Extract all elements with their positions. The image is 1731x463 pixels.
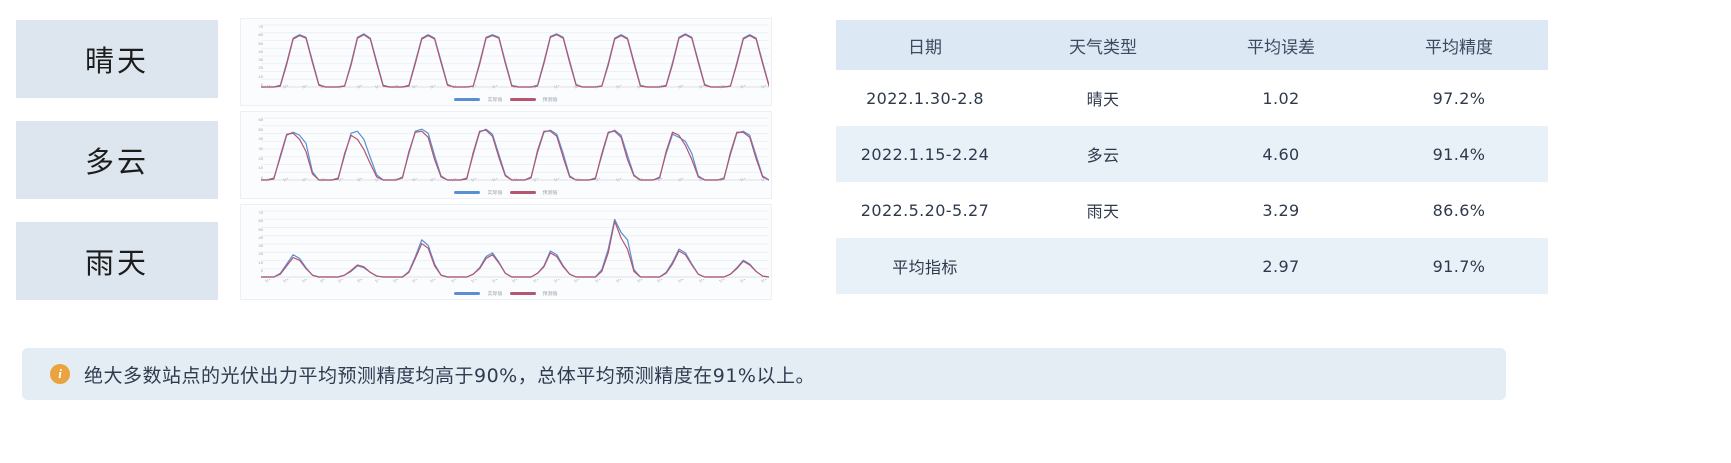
- legend-swatch-predicted: [510, 191, 536, 194]
- sunny-chart-legend: 实际值 预测值: [241, 95, 771, 104]
- summary-note-text: 绝大多数站点的光伏出力平均预测精度均高于90%，总体平均预测精度在91%以上。: [84, 361, 815, 388]
- x-tick: 1/3: [300, 85, 310, 91]
- legend-swatch-actual: [454, 292, 480, 295]
- x-tick: 1/3: [300, 178, 310, 184]
- x-tick: 1/6: [355, 279, 365, 285]
- sunny-chart-x-axis: 1/11/21/31/41/51/61/71/81/91/101/111/121…: [263, 85, 767, 93]
- cell-accuracy: 86.6%: [1370, 182, 1548, 238]
- x-tick: 1/8: [391, 85, 401, 91]
- x-tick: 1/22: [676, 85, 687, 91]
- weather-chip-label: 多云: [85, 139, 149, 181]
- x-tick: 1/11: [449, 279, 460, 285]
- cloudy-chart-y-axis: 60 50 40 30 20 10 0: [243, 118, 263, 180]
- x-tick: 1/17: [572, 178, 583, 184]
- cell-accuracy: 91.4%: [1370, 126, 1548, 182]
- x-tick: 1/17: [572, 279, 583, 285]
- x-tick: 1/25: [738, 279, 749, 285]
- legend-label-actual: 实际值: [487, 189, 502, 195]
- x-tick: 1/17: [572, 85, 583, 91]
- x-tick: 1/1: [263, 178, 273, 184]
- x-tick: 1/5: [336, 85, 346, 91]
- x-tick: 1/7: [373, 178, 383, 184]
- x-tick: 1/10: [428, 279, 439, 285]
- cell-error: 2.97: [1192, 238, 1370, 294]
- cell-error: 3.29: [1192, 182, 1370, 238]
- x-tick: 1/6: [355, 85, 365, 91]
- x-tick: 1/11: [449, 178, 460, 184]
- x-tick: 1/2: [281, 279, 291, 285]
- x-tick: 1/1: [263, 85, 273, 91]
- table-row-summary[interactable]: 平均指标 2.97 91.7%: [836, 238, 1548, 294]
- cell-weather: 多云: [1014, 126, 1192, 182]
- cell-weather: 晴天: [1014, 70, 1192, 126]
- x-tick: 1/22: [676, 178, 687, 184]
- x-tick: 1/4: [318, 279, 328, 285]
- rainy-chart[interactable]: 70 60 50 40 30 20 10 0 1/11/21/31/41/51/…: [240, 204, 772, 300]
- x-tick: 1/5: [336, 178, 346, 184]
- x-tick: 1/26: [759, 85, 767, 91]
- table-row[interactable]: 2022.5.20-5.27 雨天 3.29 86.6%: [836, 182, 1548, 238]
- x-tick: 1/19: [614, 279, 625, 285]
- metrics-table-body: 2022.1.30-2.8 晴天 1.02 97.2% 2022.1.15-2.…: [836, 70, 1548, 294]
- x-tick: 1/24: [717, 279, 728, 285]
- weather-label-column: 晴天 多云 雨天: [16, 20, 218, 300]
- x-tick: 1/2: [281, 178, 291, 184]
- cell-date: 2022.1.15-2.24: [836, 126, 1014, 182]
- x-tick: 1/7: [373, 279, 383, 285]
- legend-swatch-actual: [454, 98, 480, 101]
- cell-error: 4.60: [1192, 126, 1370, 182]
- column-header-weather[interactable]: 天气类型: [1014, 20, 1192, 70]
- x-tick: 1/21: [655, 178, 666, 184]
- x-tick: 1/8: [391, 178, 401, 184]
- cell-date: 2022.1.30-2.8: [836, 70, 1014, 126]
- cell-weather: [1014, 238, 1192, 294]
- legend-swatch-actual: [454, 191, 480, 194]
- x-tick: 1/18: [593, 279, 604, 285]
- x-tick: 1/13: [490, 178, 501, 184]
- x-tick: 1/9: [410, 178, 420, 184]
- cloudy-chart-plot: [261, 116, 769, 182]
- sunny-chart[interactable]: 70 60 50 40 30 20 10 0 1/11/21/31/41/51/…: [240, 18, 772, 106]
- x-tick: 1/18: [593, 178, 604, 184]
- x-tick: 1/25: [738, 178, 749, 184]
- table-row[interactable]: 2022.1.15-2.24 多云 4.60 91.4%: [836, 126, 1548, 182]
- column-header-accuracy[interactable]: 平均精度: [1370, 20, 1548, 70]
- x-tick: 1/19: [614, 178, 625, 184]
- x-tick: 1/16: [552, 178, 563, 184]
- x-tick: 1/6: [355, 178, 365, 184]
- cell-error: 1.02: [1192, 70, 1370, 126]
- x-tick: 1/9: [410, 85, 420, 91]
- x-tick: 1/20: [635, 85, 646, 91]
- metrics-table: 日期 天气类型 平均误差 平均精度 2022.1.30-2.8 晴天 1.02 …: [836, 20, 1548, 294]
- cloudy-chart[interactable]: 60 50 40 30 20 10 0 1/11/21/31/41/51/61/…: [240, 111, 772, 199]
- legend-swatch-predicted: [510, 292, 536, 295]
- chart-column: 70 60 50 40 30 20 10 0 1/11/21/31/41/51/…: [240, 18, 772, 300]
- x-tick: 1/13: [490, 85, 501, 91]
- x-tick: 1/14: [510, 178, 521, 184]
- rainy-chart-legend: 实际值 预测值: [241, 289, 771, 298]
- legend-label-predicted: 预测值: [543, 96, 558, 102]
- x-tick: 1/21: [655, 85, 666, 91]
- sunny-chart-plot: [261, 23, 769, 89]
- legend-label-actual: 实际值: [487, 290, 502, 296]
- x-tick: 1/19: [614, 85, 625, 91]
- table-row[interactable]: 2022.1.30-2.8 晴天 1.02 97.2%: [836, 70, 1548, 126]
- metrics-table-wrapper: 日期 天气类型 平均误差 平均精度 2022.1.30-2.8 晴天 1.02 …: [836, 20, 1548, 295]
- rainy-chart-plot: [261, 209, 769, 279]
- x-tick: 1/12: [469, 279, 480, 285]
- x-tick: 1/4: [318, 178, 328, 184]
- legend-swatch-predicted: [510, 98, 536, 101]
- rainy-chart-x-axis: 1/11/21/31/41/51/61/71/81/91/101/111/121…: [263, 279, 767, 287]
- weather-chip-label: 雨天: [85, 240, 149, 282]
- x-tick: 1/2: [281, 85, 291, 91]
- x-tick: 1/14: [510, 85, 521, 91]
- column-header-error[interactable]: 平均误差: [1192, 20, 1370, 70]
- x-tick: 1/10: [428, 85, 439, 91]
- x-tick: 1/25: [738, 85, 749, 91]
- x-tick: 1/20: [635, 279, 646, 285]
- x-tick: 1/16: [552, 279, 563, 285]
- x-tick: 1/3: [300, 279, 310, 285]
- weather-chip-rainy[interactable]: 雨天: [16, 222, 218, 300]
- legend-label-predicted: 预测值: [543, 290, 558, 296]
- column-header-date[interactable]: 日期: [836, 20, 1014, 70]
- x-tick: 1/8: [391, 279, 401, 285]
- x-tick: 1/18: [593, 85, 604, 91]
- cell-accuracy: 91.7%: [1370, 238, 1548, 294]
- x-tick: 1/21: [655, 279, 666, 285]
- x-tick: 1/12: [469, 85, 480, 91]
- x-tick: 1/23: [697, 279, 708, 285]
- x-tick: 1/20: [635, 178, 646, 184]
- cell-accuracy: 97.2%: [1370, 70, 1548, 126]
- x-tick: 1/1: [263, 279, 273, 285]
- x-tick: 1/24: [717, 85, 728, 91]
- x-tick: 1/23: [697, 85, 708, 91]
- x-tick: 1/14: [510, 279, 521, 285]
- x-tick: 1/26: [759, 178, 767, 184]
- cell-date: 平均指标: [836, 238, 1014, 294]
- x-tick: 1/26: [759, 279, 767, 285]
- x-tick: 1/10: [428, 178, 439, 184]
- report-panel: 晴天 多云 雨天 70 60 50 40 30 20 10 0 1/11/21/…: [0, 0, 1731, 463]
- x-tick: 1/15: [531, 85, 542, 91]
- x-tick: 1/13: [490, 279, 501, 285]
- weather-chip-sunny[interactable]: 晴天: [16, 20, 218, 98]
- legend-label-predicted: 预测值: [543, 189, 558, 195]
- x-tick: 1/12: [469, 178, 480, 184]
- x-tick: 1/22: [676, 279, 687, 285]
- x-tick: 1/24: [717, 178, 728, 184]
- cell-weather: 雨天: [1014, 182, 1192, 238]
- summary-note-bar: i 绝大多数站点的光伏出力平均预测精度均高于90%，总体平均预测精度在91%以上…: [22, 348, 1506, 400]
- x-tick: 1/9: [410, 279, 420, 285]
- x-tick: 1/15: [531, 178, 542, 184]
- cloudy-chart-x-axis: 1/11/21/31/41/51/61/71/81/91/101/111/121…: [263, 178, 767, 186]
- cloudy-chart-legend: 实际值 预测值: [241, 188, 771, 197]
- x-tick: 1/11: [449, 85, 460, 91]
- sunny-chart-y-axis: 70 60 50 40 30 20 10 0: [243, 25, 263, 87]
- x-tick: 1/4: [318, 85, 328, 91]
- rainy-chart-y-axis: 70 60 50 40 30 20 10 0: [243, 211, 263, 273]
- table-header-row: 日期 天气类型 平均误差 平均精度: [836, 20, 1548, 70]
- weather-chip-label: 晴天: [85, 38, 149, 80]
- x-tick: 1/16: [552, 85, 563, 91]
- x-tick: 1/15: [531, 279, 542, 285]
- info-icon: i: [50, 364, 70, 384]
- x-tick: 1/23: [697, 178, 708, 184]
- cell-date: 2022.5.20-5.27: [836, 182, 1014, 238]
- x-tick: 1/5: [336, 279, 346, 285]
- weather-chip-cloudy[interactable]: 多云: [16, 121, 218, 199]
- legend-label-actual: 实际值: [487, 96, 502, 102]
- x-tick: 1/7: [373, 85, 383, 91]
